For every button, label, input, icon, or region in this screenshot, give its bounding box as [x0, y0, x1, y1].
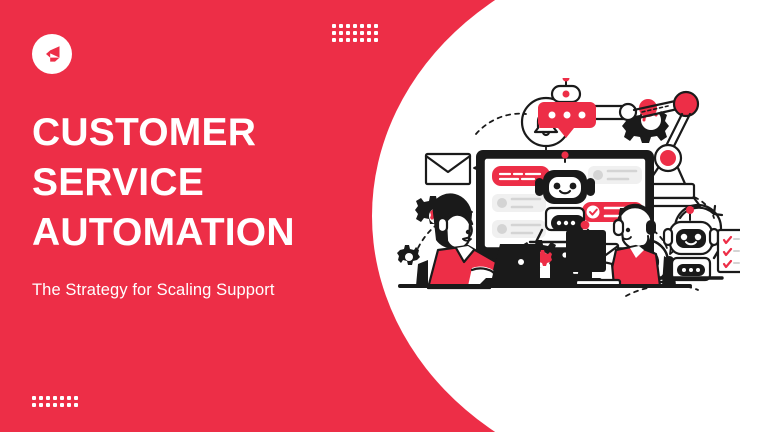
chat-robot-head-icon: [538, 78, 596, 138]
decor-dot: [346, 38, 350, 42]
decor-dot: [353, 38, 357, 42]
decor-dot: [67, 396, 71, 400]
decor-dots-bottom-left: [32, 396, 78, 407]
decor-dot: [374, 31, 378, 35]
decor-dot: [374, 38, 378, 42]
decor-dot: [60, 396, 64, 400]
title-line-3: AUTOMATION: [32, 208, 362, 258]
decor-dot: [374, 24, 378, 28]
decor-dot: [53, 403, 57, 407]
decor-dot: [53, 396, 57, 400]
decor-dot: [360, 24, 364, 28]
decor-dot: [367, 24, 371, 28]
decor-dot: [39, 403, 43, 407]
dashed-flow-arrow-icon: [476, 114, 526, 134]
slide-canvas: CUSTOMER SERVICE AUTOMATION The Strategy…: [0, 0, 768, 432]
decor-dot: [360, 38, 364, 42]
decor-dot: [353, 24, 357, 28]
decor-dot: [74, 403, 78, 407]
decor-dot: [60, 403, 64, 407]
decor-dot: [46, 403, 50, 407]
decor-dot: [67, 403, 71, 407]
decor-dot: [332, 31, 336, 35]
robot-checklist-icon: [660, 206, 740, 280]
decor-dot: [74, 396, 78, 400]
page-subtitle: The Strategy for Scaling Support: [32, 281, 275, 300]
decor-dot: [367, 31, 371, 35]
gear-icon: [397, 245, 420, 265]
title-line-2: SERVICE: [32, 158, 362, 208]
play-chevron-mark-icon: [42, 44, 62, 64]
decor-dot: [346, 31, 350, 35]
decor-dot: [46, 396, 50, 400]
envelope-icon: [426, 154, 470, 184]
decor-dot: [332, 24, 336, 28]
decor-dot: [346, 24, 350, 28]
decor-dot: [360, 31, 364, 35]
page-title: CUSTOMER SERVICE AUTOMATION: [32, 108, 362, 258]
brand-logo[interactable]: [32, 34, 72, 74]
decor-dot: [339, 24, 343, 28]
decor-dot: [332, 38, 336, 42]
decor-dots-top-right: [332, 24, 378, 42]
decor-dot: [353, 31, 357, 35]
decor-dot: [39, 396, 43, 400]
decor-dot: [32, 396, 36, 400]
decor-dot: [32, 403, 36, 407]
decor-dot: [367, 38, 371, 42]
hero-illustration: 24/7: [380, 78, 740, 308]
decor-dot: [339, 31, 343, 35]
title-line-1: CUSTOMER: [32, 108, 362, 158]
decor-dot: [339, 38, 343, 42]
